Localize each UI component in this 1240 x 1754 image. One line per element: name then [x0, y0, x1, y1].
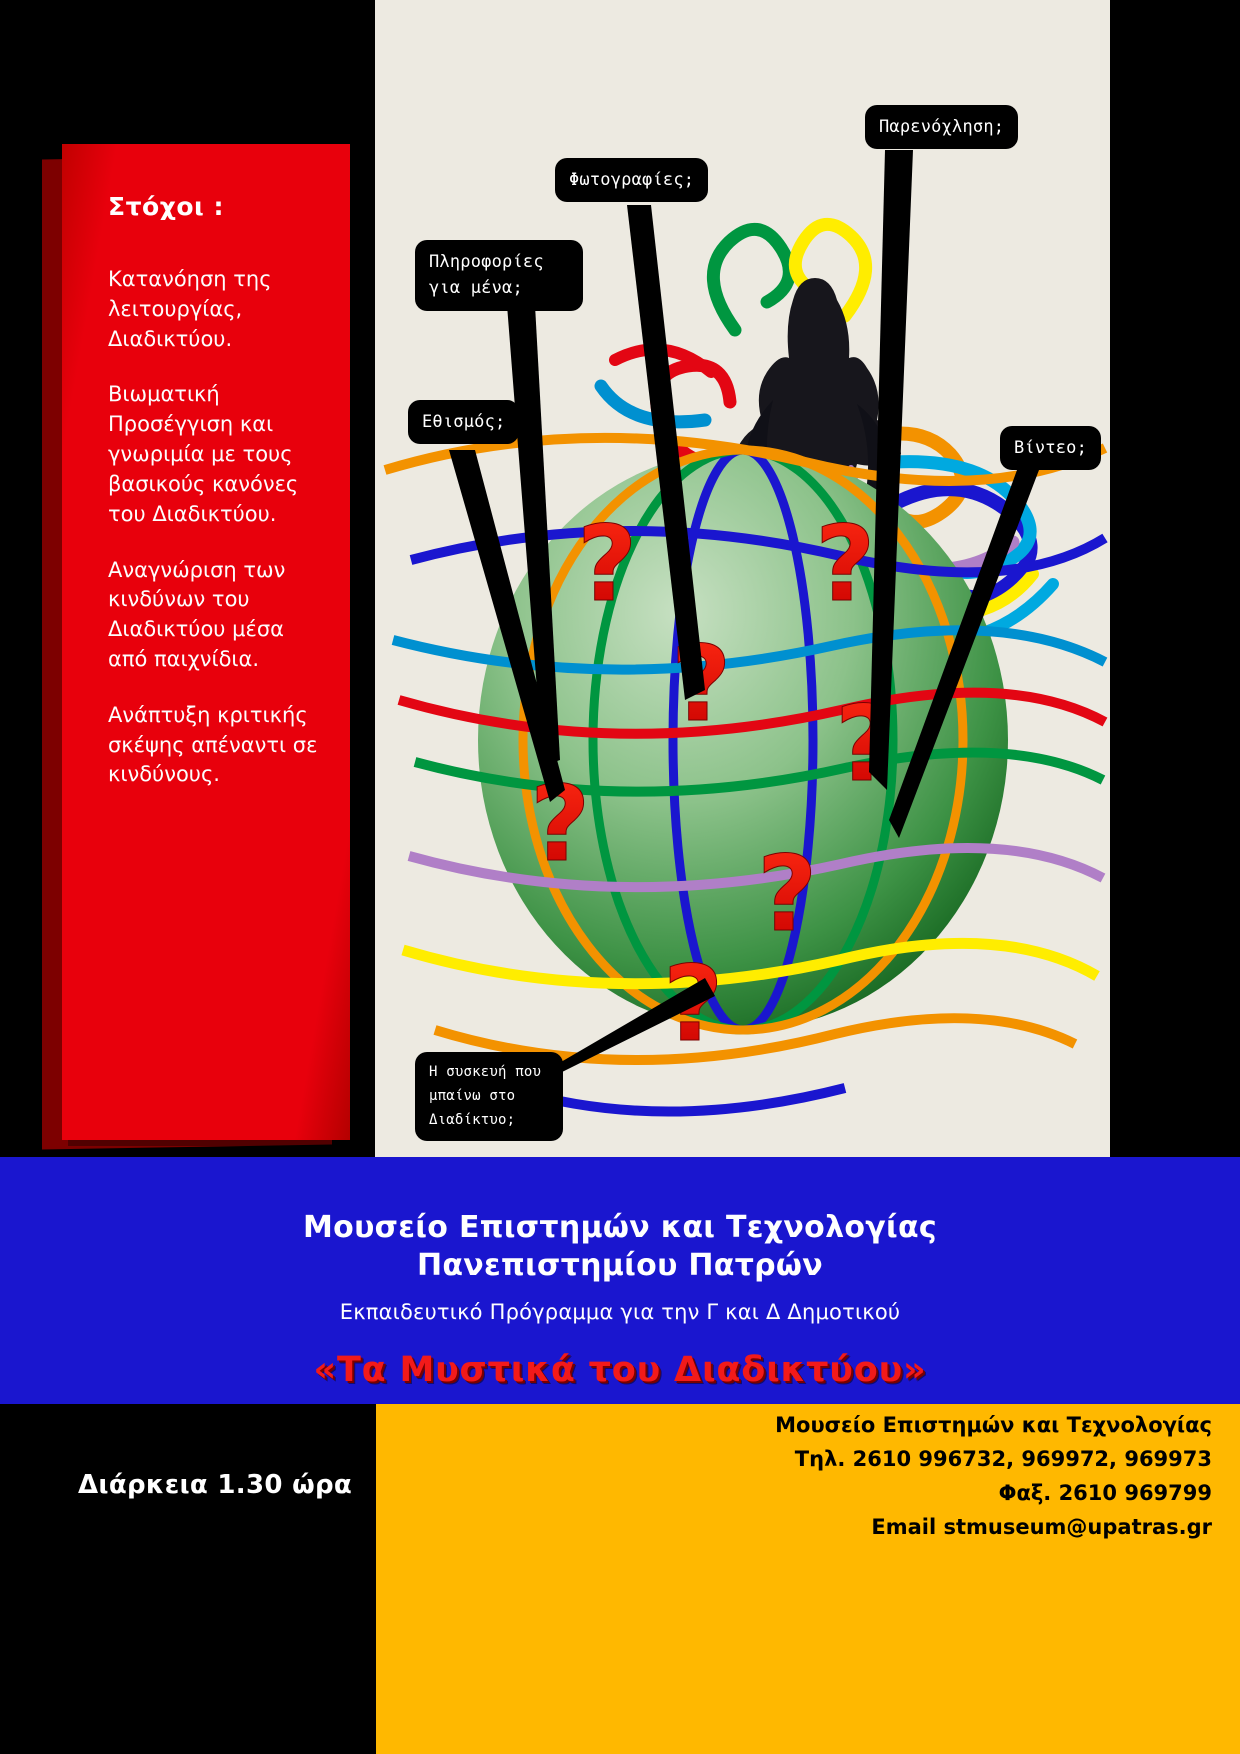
poster-root: Στόχοι : Κατανόηση της λειτουργίας, Διαδ… [0, 0, 1240, 1754]
tail-harassment [869, 150, 913, 790]
contact-line: Τηλ. 2610 996732, 969972, 969973 [775, 1442, 1212, 1476]
bubble-tails [375, 0, 1110, 1157]
bubble-video[interactable]: Βίντεο; [1000, 426, 1101, 470]
duration-box [0, 1404, 376, 1754]
organization-line-1: Μουσείο Επιστημών και Τεχνολογίας [0, 1157, 1240, 1247]
contact-line-email[interactable]: Email stmuseum@upatras.gr [775, 1510, 1212, 1544]
blue-footer-band: Μουσείο Επιστημών και Τεχνολογίας Πανεπι… [0, 1157, 1240, 1404]
tail-video [889, 470, 1039, 838]
bubble-photos[interactable]: Φωτογραφίες; [555, 158, 708, 202]
bubble-harassment[interactable]: Παρενόχληση; [865, 105, 1018, 149]
bubble-device[interactable]: Η συσκευή που μπαίνω στο Διαδίκτυο; [415, 1052, 563, 1141]
tail-device [550, 978, 715, 1078]
duration-label: Διάρκεια 1.30 ώρα [78, 1470, 352, 1500]
program-subtitle: Εκπαιδευτικό Πρόγραμμα για την Γ και Δ Δ… [0, 1300, 1240, 1324]
goals-panel: Στόχοι : Κατανόηση της λειτουργίας, Διαδ… [62, 144, 350, 1140]
tail-photos [627, 205, 705, 700]
contact-info: Μουσείο Επιστημών και Τεχνολογίας Τηλ. 2… [775, 1408, 1212, 1544]
right-black-margin [1110, 0, 1240, 1157]
program-title: «Τα Μυστικά του Διαδικτύου» [0, 1350, 1240, 1390]
bubble-addiction[interactable]: Εθισμός; [408, 400, 519, 444]
contact-line: Φαξ. 2610 969799 [775, 1476, 1212, 1510]
artwork-panel: ? ? ? ? ? ? ? [375, 0, 1110, 1157]
contact-line: Μουσείο Επιστημών και Τεχνολογίας [775, 1408, 1212, 1442]
goal-item: Ανάπτυξη κριτικής σκέψης απέναντι σε κιν… [108, 701, 324, 790]
organization-line-2: Πανεπιστημίου Πατρών [0, 1247, 1240, 1285]
bubble-info[interactable]: Πληροφορίες για μένα; [415, 240, 583, 311]
goal-item: Κατανόηση της λειτουργίας, Διαδικτύου. [108, 265, 324, 354]
goal-item: Αναγνώριση των κινδύνων του Διαδικτύου μ… [108, 556, 324, 675]
goal-item: Βιωματική Προσέγγιση και γνωριμία με του… [108, 380, 324, 529]
goals-title: Στόχοι : [108, 192, 324, 221]
